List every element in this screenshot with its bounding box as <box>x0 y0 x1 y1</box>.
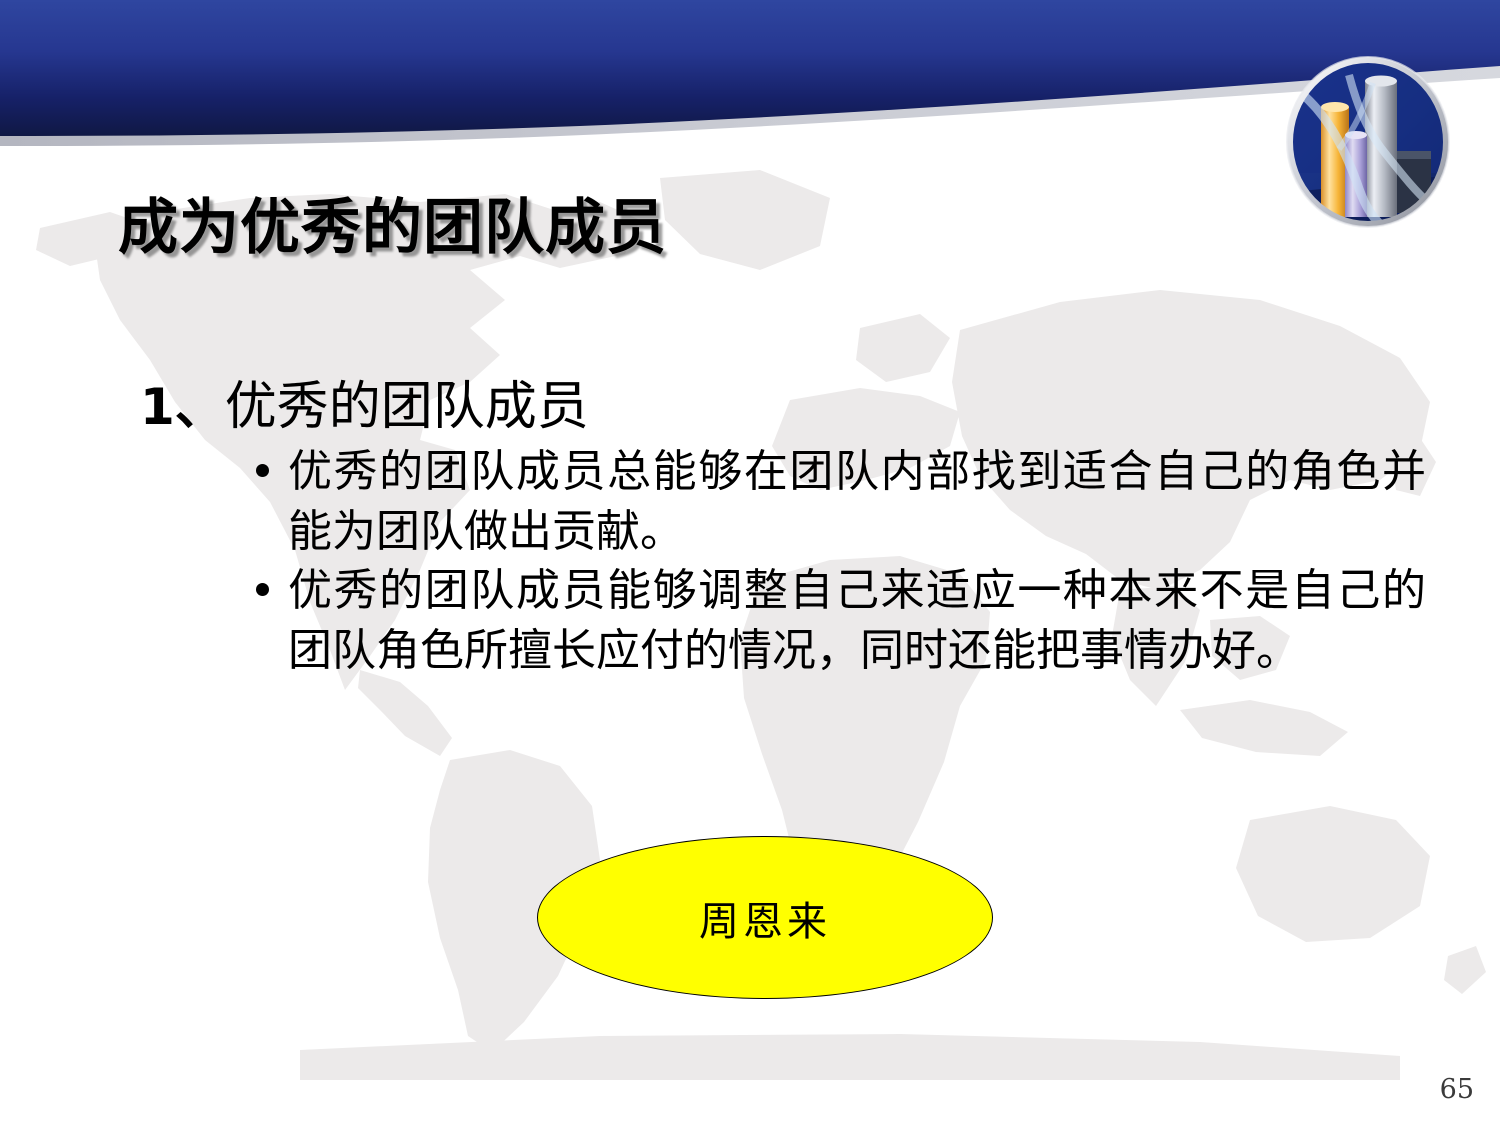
heading-text: 优秀的团队成员 <box>225 377 589 437</box>
heading-level-1: 1、优秀的团队成员 <box>140 378 1500 436</box>
slide-canvas: 成为优秀的团队成员 1、优秀的团队成员 优秀的团队成员总能够在团队内部找到适合自… <box>0 0 1500 1125</box>
heading-number: 1、 <box>140 378 225 436</box>
page-number: 65 <box>1440 1074 1474 1105</box>
bullet-dot-icon <box>256 464 269 477</box>
bullet-dot-icon <box>256 583 269 596</box>
callout-label: 周恩来 <box>537 836 993 999</box>
list-item-text: 优秀的团队成员总能够在团队内部找到适合自己的角色并能为团队做出贡献。 <box>288 446 1426 557</box>
slide-title: 成为优秀的团队成员 <box>118 196 667 261</box>
callout-ellipse: 周恩来 <box>537 836 993 999</box>
list-item-text: 优秀的团队成员能够调整自己来适应一种本来不是自己的团队角色所擅长应付的情况，同时… <box>288 565 1426 676</box>
list-item: 优秀的团队成员能够调整自己来适应一种本来不是自己的团队角色所擅长应付的情况，同时… <box>252 561 1426 680</box>
bar-chart-globe-logo-icon <box>1283 53 1453 231</box>
bullet-list: 优秀的团队成员总能够在团队内部找到适合自己的角色并能为团队做出贡献。 优秀的团队… <box>0 442 1500 680</box>
slide-body: 1、优秀的团队成员 优秀的团队成员总能够在团队内部找到适合自己的角色并能为团队做… <box>0 378 1500 681</box>
list-item: 优秀的团队成员总能够在团队内部找到适合自己的角色并能为团队做出贡献。 <box>252 442 1426 561</box>
